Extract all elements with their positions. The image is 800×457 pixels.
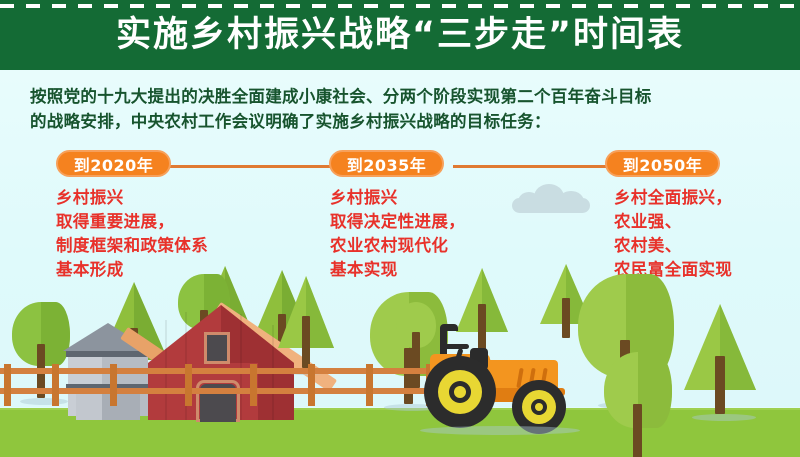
goal-line: 基本形成 bbox=[56, 258, 208, 282]
infographic-poster: 实施乡村振兴战略“三步走”时间表 按照党的十九大提出的决胜全面建成小康社会、分两… bbox=[0, 0, 800, 457]
goal-line: 取得重要进展， bbox=[56, 210, 208, 234]
tractor-rear-wheel bbox=[424, 356, 496, 428]
farm-scene-illustration bbox=[0, 280, 800, 457]
goal-line: 乡村振兴 bbox=[56, 186, 208, 210]
page-title: 实施乡村振兴战略“三步走”时间表 bbox=[0, 14, 800, 56]
goal-line: 乡村振兴 bbox=[330, 186, 465, 210]
goal-line: 取得决定性进展， bbox=[330, 210, 465, 234]
silo-band-top bbox=[66, 351, 150, 357]
timeline-connector-1 bbox=[165, 165, 340, 168]
tractor-shadow bbox=[420, 426, 580, 435]
timeline-badge-2035[interactable]: 到2035年 bbox=[329, 150, 444, 177]
intro-line-1: 按照党的十九大提出的决胜全面建成小康社会、分两个阶段实现第二个百年奋斗目标 bbox=[30, 87, 652, 106]
cloud-icon bbox=[512, 184, 590, 214]
timeline-connector-2 bbox=[453, 165, 613, 168]
goal-column-2050: 乡村全面振兴， 农业强、 农村美、 农民富全面实现 bbox=[614, 186, 732, 282]
goal-line: 农村美、 bbox=[614, 234, 732, 258]
goal-line: 农业农村现代化 bbox=[330, 234, 465, 258]
timeline-badge-2050[interactable]: 到2050年 bbox=[605, 150, 720, 177]
goal-line: 基本实现 bbox=[330, 258, 465, 282]
intro-line-2: 的战略安排，中央农村工作会议明确了实施乡村振兴战略的目标任务： bbox=[30, 109, 775, 134]
barn-window bbox=[204, 332, 230, 364]
timeline: 到2020年 到2035年 到2050年 bbox=[0, 150, 800, 182]
fence-rail-top bbox=[0, 368, 440, 374]
goal-line: 乡村全面振兴， bbox=[614, 186, 732, 210]
goal-column-2020: 乡村振兴 取得重要进展， 制度框架和政策体系 基本形成 bbox=[56, 186, 208, 282]
timeline-badge-2020[interactable]: 到2020年 bbox=[56, 150, 171, 177]
goal-line: 制度框架和政策体系 bbox=[56, 234, 208, 258]
fence-rail-bottom bbox=[0, 388, 440, 394]
tractor-steering-wheel bbox=[443, 344, 469, 349]
header-dashed-line bbox=[0, 4, 800, 8]
intro-paragraph: 按照党的十九大提出的决胜全面建成小康社会、分两个阶段实现第二个百年奋斗目标 的战… bbox=[30, 84, 775, 134]
poster-header: 实施乡村振兴战略“三步走”时间表 bbox=[0, 0, 800, 70]
goal-line: 农业强、 bbox=[614, 210, 732, 234]
goal-column-2035: 乡村振兴 取得决定性进展， 农业农村现代化 基本实现 bbox=[330, 186, 465, 282]
